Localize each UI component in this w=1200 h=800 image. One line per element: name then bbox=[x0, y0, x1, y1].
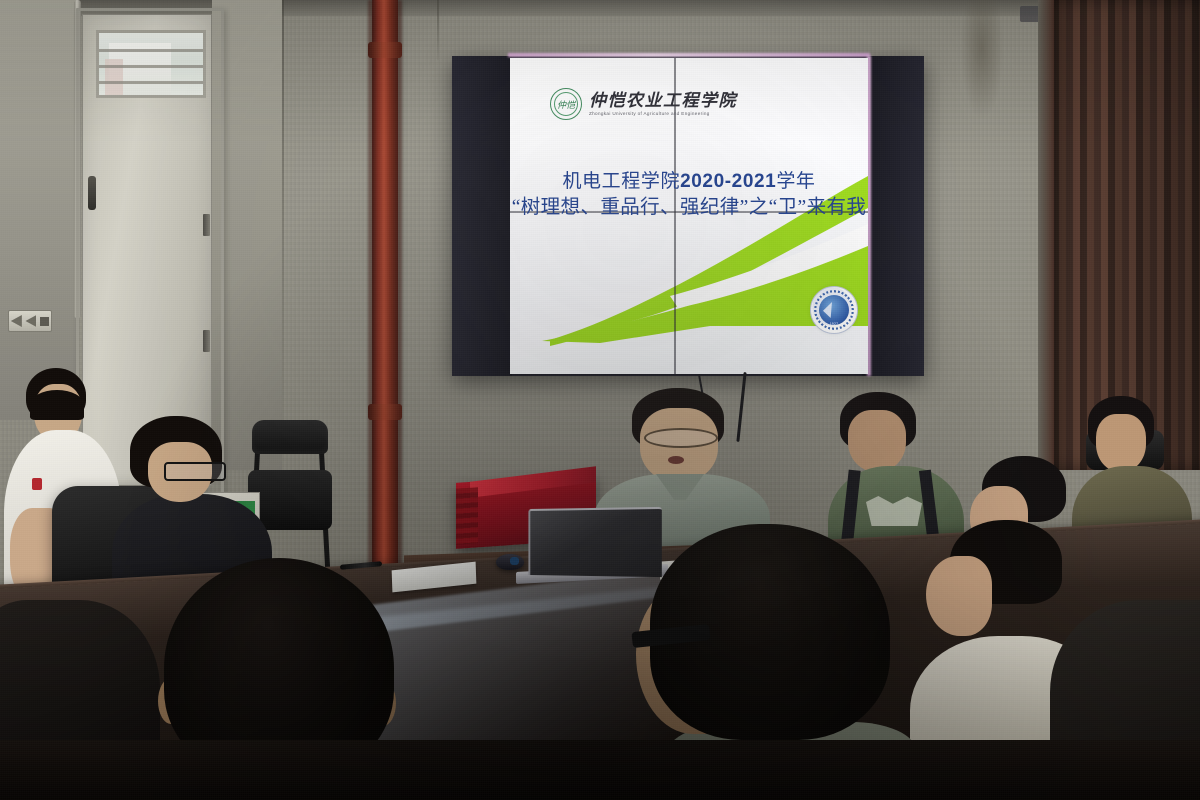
window-louver bbox=[99, 81, 203, 84]
university-name-cn: 仲恺农业工程学院 bbox=[589, 92, 737, 109]
table-front-edge bbox=[0, 740, 1200, 800]
curtain-edge bbox=[1038, 0, 1054, 470]
door-window bbox=[96, 30, 206, 98]
door-hinge bbox=[203, 214, 210, 236]
tshirt-badge bbox=[32, 478, 42, 490]
socket-switch-icon bbox=[11, 315, 22, 327]
meeting-room-photo: 仲恺 仲恺农业工程学院 Zhongkai University of Agric… bbox=[0, 0, 1200, 800]
door-hinge bbox=[203, 330, 210, 352]
seal-mark: 仲恺 bbox=[557, 98, 575, 111]
wall-seam-a bbox=[282, 0, 284, 430]
eyeglasses-icon bbox=[644, 428, 718, 448]
presentation-slide: 仲恺 仲恺农业工程学院 Zhongkai University of Agric… bbox=[510, 58, 868, 374]
eyeglasses-icon bbox=[164, 462, 226, 481]
window-louver bbox=[99, 49, 203, 52]
face bbox=[848, 410, 906, 472]
title-suffix: 学年 bbox=[776, 171, 815, 192]
socket-switch-icon bbox=[25, 315, 36, 327]
wall-stain bbox=[960, 0, 1004, 120]
window-louver bbox=[99, 65, 203, 68]
video-wall-bezel-left bbox=[452, 56, 512, 376]
mouth bbox=[668, 456, 684, 464]
door-handle[interactable] bbox=[88, 176, 96, 210]
title-years: 2020-2021 bbox=[680, 171, 776, 192]
face bbox=[926, 556, 992, 636]
university-name-en: Zhongkai University of Agriculture and E… bbox=[589, 111, 737, 116]
university-seal-icon: 仲恺 bbox=[550, 88, 582, 120]
slide-title-line-2: “树理想、重品行、强纪律”之“卫”来有我 bbox=[510, 195, 868, 220]
video-wall-edge-glow-top bbox=[508, 53, 870, 57]
wall-power-socket[interactable] bbox=[8, 310, 52, 332]
university-logo: 仲恺 仲恺农业工程学院 Zhongkai University of Agric… bbox=[550, 88, 737, 120]
video-wall-display[interactable]: 仲恺 仲恺农业工程学院 Zhongkai University of Agric… bbox=[452, 56, 924, 376]
slide-title-block: 机电工程学院2020-2021学年 “树理想、重品行、强纪律”之“卫”来有我 bbox=[510, 170, 868, 220]
college-emblem-icon: 1927 bbox=[810, 286, 858, 334]
socket-outlet-icon bbox=[40, 317, 49, 326]
slide-title-line-1: 机电工程学院2020-2021学年 bbox=[510, 170, 868, 194]
emblem-year-text: 1927 bbox=[811, 322, 857, 326]
video-wall-bezel-right bbox=[862, 56, 924, 376]
title-prefix: 机电工程学院 bbox=[562, 171, 680, 192]
wall-panel-left bbox=[0, 0, 78, 420]
red-drape-pleats bbox=[456, 487, 478, 545]
pipe-soft-shading bbox=[368, 0, 402, 588]
wall-seam-b bbox=[437, 0, 439, 60]
emblem-core bbox=[819, 295, 849, 325]
